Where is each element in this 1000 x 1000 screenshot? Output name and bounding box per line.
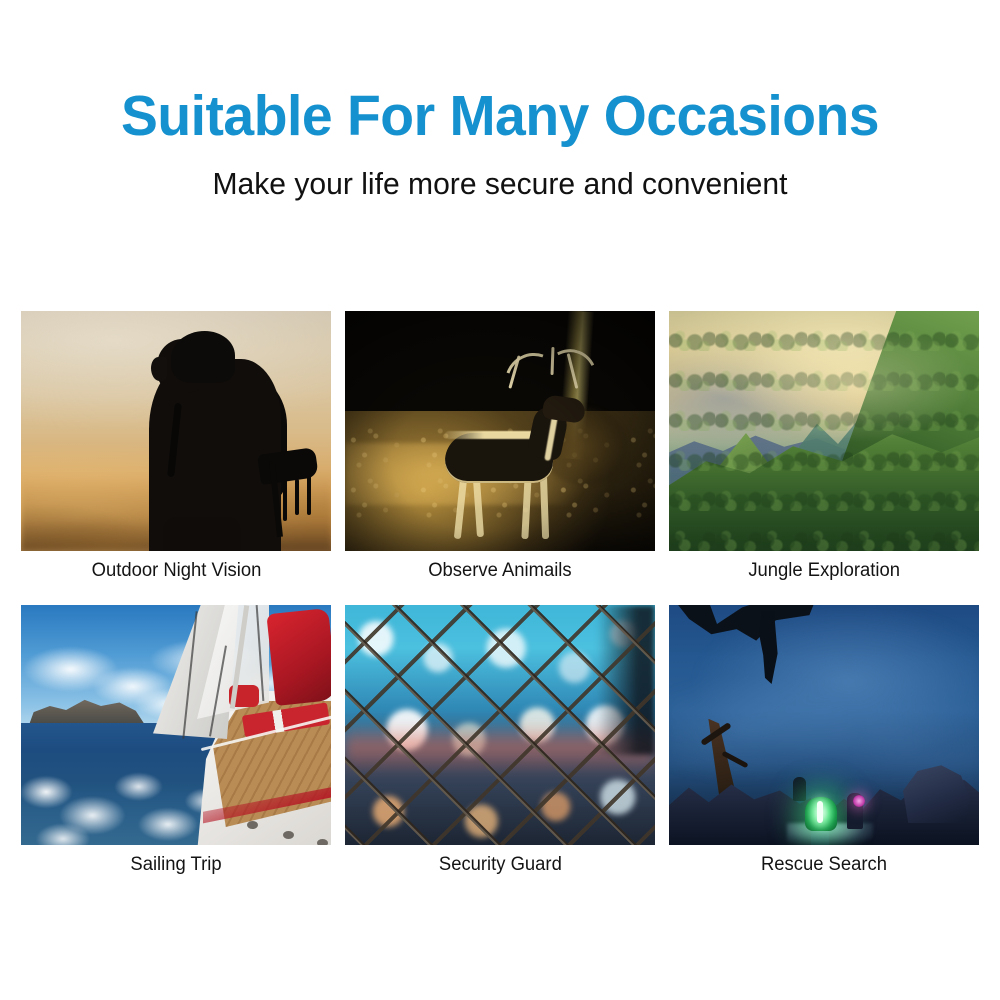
photo-security-guard: [345, 605, 655, 845]
photo-sailing-trip: [21, 605, 331, 845]
red-sail-cover: [266, 608, 331, 706]
rescuer-figure-2: [793, 777, 806, 801]
sun-glow: [669, 311, 979, 551]
night-vignette: [345, 311, 655, 551]
promo-page: Suitable For Many Occasions Make your li…: [0, 0, 1000, 1000]
caption-observe-animails: Observe Animails: [428, 560, 571, 583]
page-title: Suitable For Many Occasions: [15, 86, 985, 146]
caption-rescue-search: Rescue Search: [761, 854, 887, 877]
gallery-item-observe-animails[interactable]: Observe Animails: [345, 311, 655, 583]
caption-jungle-exploration: Jungle Exploration: [748, 560, 900, 583]
photo-outdoor-night-vision: [21, 311, 331, 551]
page-subtitle: Make your life more secure and convenien…: [15, 166, 985, 202]
hiker-legs-silhouette: [163, 517, 241, 551]
porthole-1: [247, 821, 258, 829]
hanging-strap-2: [295, 479, 299, 515]
porthole-2: [283, 831, 294, 839]
chain-link-highlight: [345, 605, 655, 845]
photo-observe-animails: [345, 311, 655, 551]
hiker-face-profile: [151, 357, 167, 381]
photo-jungle-exploration: [669, 311, 979, 551]
green-light-beam: [817, 801, 823, 823]
gallery-item-security-guard[interactable]: Security Guard: [345, 605, 655, 877]
gallery-item-outdoor-night-vision[interactable]: Outdoor Night Vision: [21, 311, 331, 583]
gallery-item-rescue-search[interactable]: Rescue Search: [669, 605, 979, 877]
caption-sailing-trip: Sailing Trip: [130, 854, 221, 877]
photo-rescue-search: [669, 605, 979, 845]
caption-security-guard: Security Guard: [439, 854, 562, 877]
hanging-strap-3: [307, 475, 311, 515]
caption-outdoor-night-vision: Outdoor Night Vision: [91, 560, 261, 583]
occasion-gallery-grid: Outdoor Night Vision: [21, 311, 979, 877]
header: Suitable For Many Occasions Make your li…: [0, 0, 1000, 202]
gallery-item-sailing-trip[interactable]: Sailing Trip: [21, 605, 331, 877]
gallery-item-jungle-exploration[interactable]: Jungle Exploration: [669, 311, 979, 583]
hiker-hood-silhouette: [171, 331, 235, 383]
hanging-strap-1: [283, 477, 287, 521]
porthole-3: [317, 839, 328, 845]
